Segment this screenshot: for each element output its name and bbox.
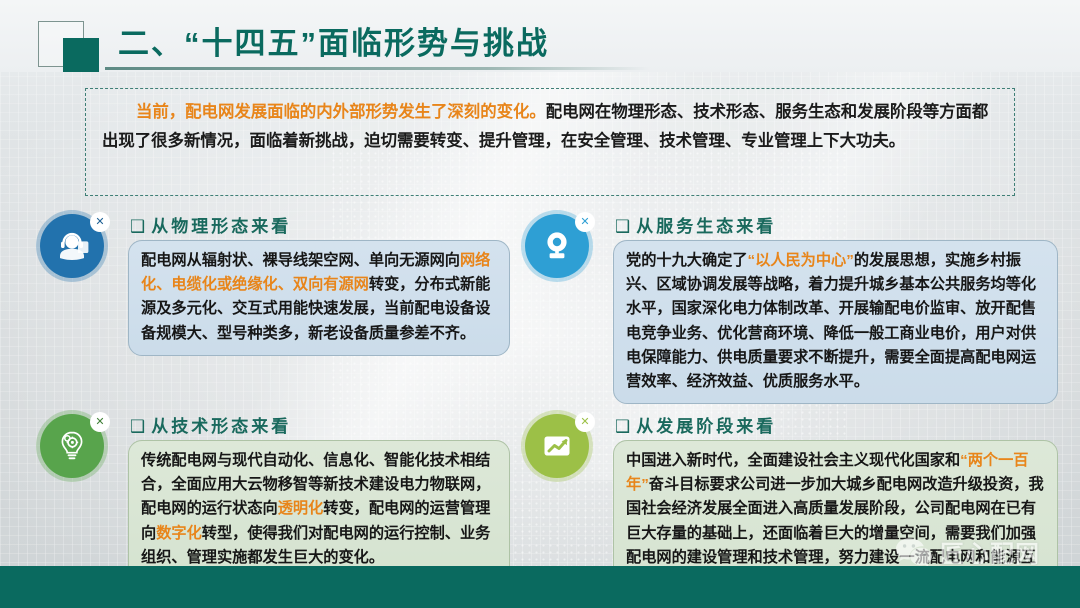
trending-up-chart-icon: ✕ — [525, 414, 589, 478]
body-segment: 的发展思想，实施乡村振兴、区域协调发展等战略，着力提升城乡基本公共服务均等化水平… — [626, 252, 1036, 390]
customer-service-icon: ✕ — [40, 214, 104, 278]
body-segment-highlight: 数字化 — [156, 525, 202, 542]
card-body-technical: 传统配电网与现代自动化、信息化、智能化技术相结合，全面应用大云物移智等新技术建设… — [128, 440, 510, 580]
card-heading-text: 从物理形态来看 — [151, 217, 291, 236]
decorative-square-filled — [63, 38, 99, 72]
card-body-service: 党的十九大确定了“以人民为中心”的发展思想，实施乡村振兴、区域协调发展等战略，着… — [613, 240, 1058, 404]
presentation-slide: 二、“十四五”面临形势与挑战 当前，配电网发展面临的内外部形势发生了深刻的变化。… — [0, 0, 1080, 608]
close-badge-icon: ✕ — [575, 212, 595, 232]
close-badge-icon: ✕ — [90, 212, 110, 232]
slide-footer-bar — [0, 566, 1080, 608]
square-bullet-icon: ❑ — [615, 217, 630, 237]
body-segment: 中国进入新时代，全面建设社会主义现代化国家和 — [626, 452, 960, 469]
card-heading-text: 从服务生态来看 — [636, 217, 776, 236]
intro-paragraph: 当前，配电网发展面临的内外部形势发生了深刻的变化。配电网在物理形态、技术形态、服… — [102, 98, 998, 156]
slide-header: 二、“十四五”面临形势与挑战 — [0, 0, 1080, 72]
intro-lead-highlight: 当前，配电网发展面临的内外部形势发生了深刻的变化。 — [136, 103, 546, 121]
square-bullet-icon: ❑ — [615, 417, 630, 437]
card-heading-development: ❑从发展阶段来看 — [615, 412, 776, 437]
body-segment: 党的十九大确定了 — [626, 252, 748, 269]
card-heading-technical: ❑从技术形态来看 — [130, 412, 291, 437]
close-badge-icon: ✕ — [575, 412, 595, 432]
lightbulb-icon: ✕ — [525, 214, 589, 278]
page-title: 二、“十四五”面临形势与挑战 — [118, 18, 549, 63]
body-segment-highlight: “以人民为中心” — [748, 252, 854, 269]
square-bullet-icon: ❑ — [130, 217, 145, 237]
close-badge-icon: ✕ — [90, 412, 110, 432]
intro-callout-box: 当前，配电网发展面临的内外部形势发生了深刻的变化。配电网在物理形态、技术形态、服… — [85, 88, 1015, 196]
card-heading-service: ❑从服务生态来看 — [615, 212, 776, 237]
square-bullet-icon: ❑ — [130, 417, 145, 437]
card-heading-text: 从技术形态来看 — [151, 417, 291, 436]
card-body-physical: 配电网从辐射状、裸导线架空网、单向无源网向网络化、电缆化或绝缘化、双向有源网转变… — [128, 240, 510, 356]
card-heading-physical: ❑从物理形态来看 — [130, 212, 291, 237]
body-segment: 配电网从辐射状、裸导线架空网、单向无源网向 — [141, 252, 460, 269]
card-heading-text: 从发展阶段来看 — [636, 417, 776, 436]
title-underline-rule — [105, 67, 650, 70]
lightbulb-gear-icon: ✕ — [40, 414, 104, 478]
body-segment-highlight: 透明化 — [278, 500, 324, 517]
